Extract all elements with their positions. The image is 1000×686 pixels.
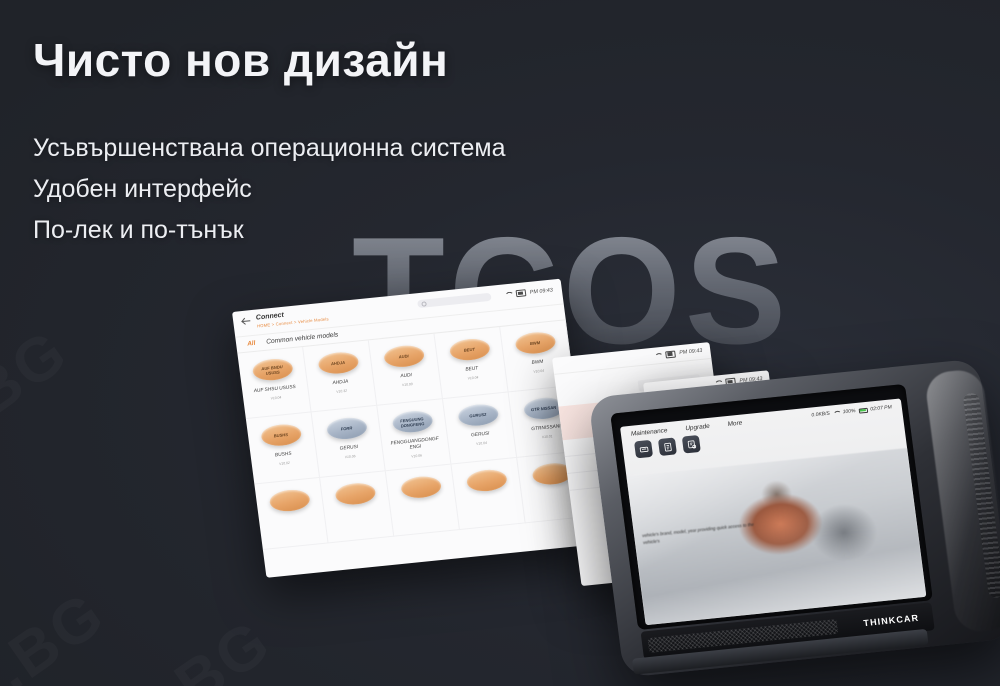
battery-icon [515,289,526,297]
brand-name: BWMV10.04 [531,360,544,375]
brand-logo: BWM [514,331,557,356]
search-input[interactable] [417,293,492,308]
back-arrow-icon[interactable] [242,317,251,326]
battery-percent: 100% [842,408,856,415]
brand-cell[interactable] [320,471,394,543]
obd-connector-icon[interactable] [634,440,653,459]
brand-name: GERUSIV10.04 [471,432,491,448]
brand-version: V10.02 [276,460,293,468]
brand-cell[interactable]: BUSHS BUSHSV10.02 [246,412,320,484]
page-title: Чисто нов дизайн [33,33,448,87]
network-speed: 0.0KB/S [811,411,830,419]
brand-name: GTRNISSANIV10.01 [531,424,562,441]
brand-version: V10.01 [532,432,562,441]
brand-cell[interactable]: FORR GERUSIV10.06 [312,406,386,478]
brand-cell[interactable]: FENGUUNG DONGFENG FENGGUANGDONGF ENGIV10… [377,399,451,471]
brand-logo: BUSHS [260,423,303,448]
feature-item: Удобен интерфейс [33,169,506,210]
brand-version: V10.06 [388,450,445,462]
clock: 02:07 PM [870,404,892,412]
brand-version: V10.04 [472,439,491,447]
nav-item-maintenance[interactable]: Maintenance [631,427,668,438]
brand-logo: AHDJA [317,351,360,376]
brand-logo: AUDI [382,344,425,369]
brand-version: V10.32 [333,388,349,396]
wifi-icon [832,410,840,416]
brand-logo: FENGUUNG DONGFENG [391,409,434,434]
wifi-icon [505,292,513,298]
brand-logo [465,468,508,493]
brand-cell[interactable] [254,478,328,550]
thinkcar-tablet: Maintenance Upgrade More 0.0KB/S 100% 02… [588,358,1000,677]
brand-logo: THINKCAR [863,613,920,629]
brand-version: V10.04 [466,374,480,381]
device-ui: Maintenance Upgrade More 0.0KB/S 100% 02… [620,398,926,625]
brand-name: AUF SHSU USUSSV10.04 [254,385,298,403]
brand-name: GERUSIV10.06 [340,445,360,461]
brand-name: AUDIV10.00 [400,373,413,388]
brand-cell[interactable]: AHDJA AHDJAV10.32 [303,340,377,412]
brand-name: FENGGUANGDONGF ENGIV10.06 [387,436,445,461]
brand-cell[interactable] [451,458,525,530]
tab-all[interactable]: All [247,340,256,348]
battery-icon [858,407,868,413]
brand-cell[interactable]: AUF BNDU USUSS AUF SHSU USUSSV10.04 [237,347,311,419]
brand-grid: AUF BNDU USUSS AUF SHSU USUSSV10.04 AHDJ… [237,320,591,550]
brand-logo: GURUS2 [457,403,500,428]
brand-version: V10.04 [532,368,544,375]
device-screen: Maintenance Upgrade More 0.0KB/S 100% 02… [610,384,933,630]
report-document-icon[interactable] [658,437,677,456]
brand-logo [268,488,311,513]
diagnostic-report-icon[interactable] [682,435,701,454]
brand-cell[interactable]: BEUT BEUTV10.04 [434,327,508,399]
clock: PM 09:43 [529,287,553,295]
wifi-icon [654,352,662,358]
brand-name: AHDJAV10.32 [332,380,349,395]
feature-item: По-лек и по-тънък [33,210,506,251]
brand-cell[interactable] [386,465,460,537]
nav-item-upgrade[interactable]: Upgrade [685,422,710,431]
brand-name: BEUTV10.04 [465,366,480,381]
status-bar: PM 09:43 [505,286,554,298]
feature-item: Усъвършенствана операционна система [33,128,506,169]
mechanic-photo: vehicle's brand, model, year providing q… [626,448,926,625]
brand-logo: BEUT [448,337,491,362]
battery-icon [665,350,676,358]
brand-cell[interactable]: GURUS2 GERUSIV10.04 [443,392,517,464]
feature-list: Усъвършенствана операционна система Удоб… [33,128,506,251]
clock: PM 09:43 [679,348,703,356]
brand-version: V10.06 [341,453,360,461]
brand-name: BUSHSV10.02 [275,452,293,468]
brand-logo [334,481,377,506]
brand-cell[interactable]: AUDI AUDIV10.00 [369,334,443,406]
brand-logo: AUF BNDU USUSS [251,357,294,382]
brand-version: V10.04 [255,393,298,403]
promo-banner: COMAUTO.BG COMAUTO.BG COMAUTO.BG COMAUTO… [0,0,1000,686]
brand-logo: FORR [325,416,368,441]
nav-item-more[interactable]: More [727,419,742,427]
brand-version: V10.00 [401,381,413,388]
vehicle-models-panel: Connect HOME > Connect > Vehicle Models … [232,279,595,578]
brand-logo [399,475,442,500]
